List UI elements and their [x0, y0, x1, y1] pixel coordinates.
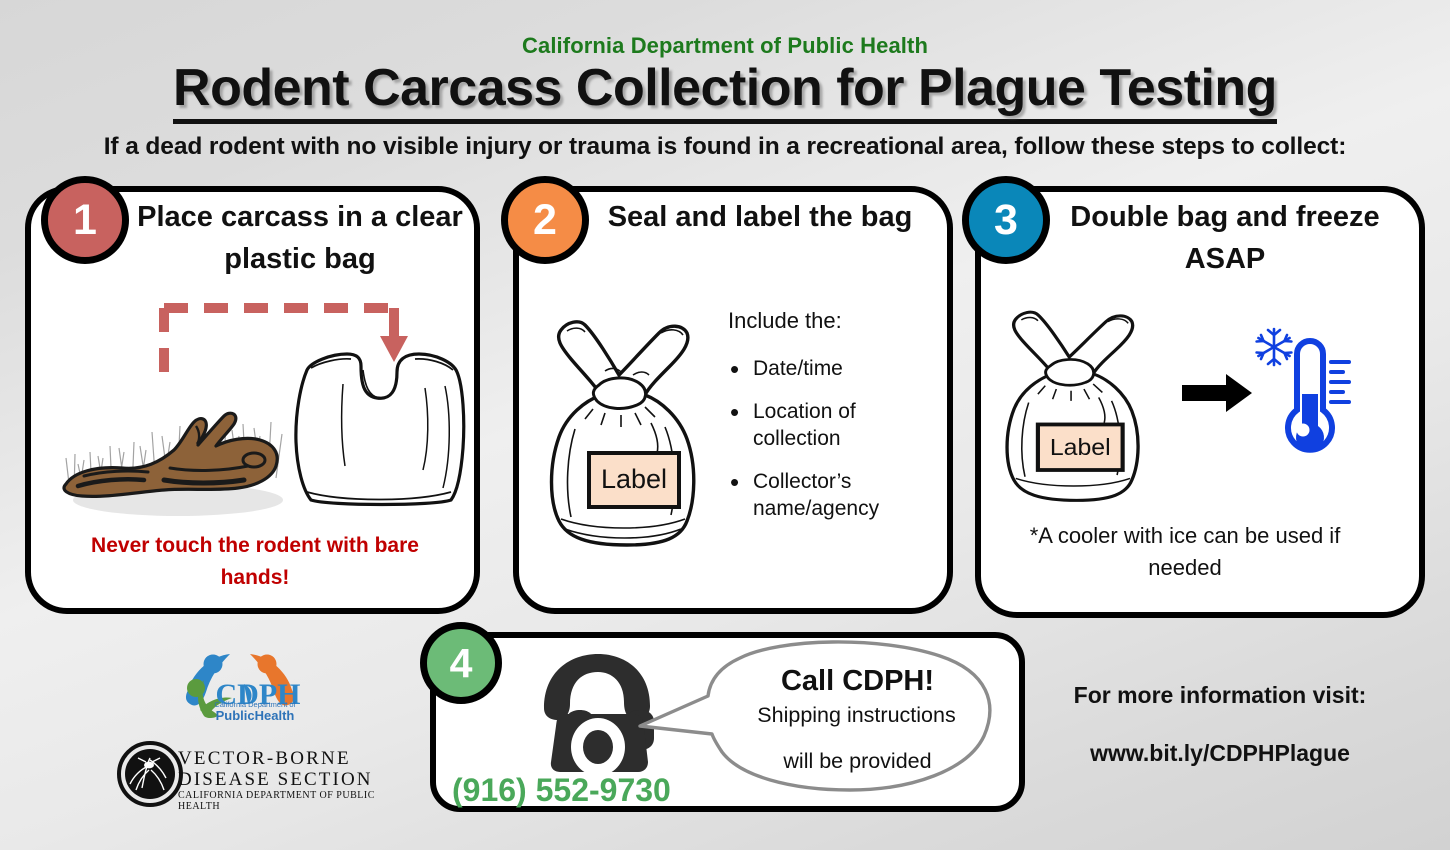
include-lead: Include the:	[728, 308, 938, 334]
page-title-text: Rodent Carcass Collection for Plague Tes…	[173, 59, 1277, 124]
include-items: Date/time Location of collection Collect…	[728, 356, 938, 522]
step-2-title: Seal and label the bag	[600, 196, 920, 238]
svg-text:Label: Label	[1050, 435, 1111, 461]
call-cdph-heading: Call CDPH!	[745, 665, 970, 698]
infographic-canvas: California Department of Public Health R…	[0, 0, 1450, 850]
cdph-phone-number[interactable]: (916) 552-9730	[452, 772, 671, 809]
page-title: Rodent Carcass Collection for Plague Tes…	[0, 58, 1450, 118]
step-number-badge-2: 2	[501, 176, 589, 264]
more-information-url[interactable]: www.bit.ly/CDPHPlague	[1040, 740, 1400, 767]
department-name: California Department of Public Health	[0, 33, 1450, 59]
vector-borne-line-2: DISEASE SECTION	[178, 769, 393, 791]
call-cdph-line-1: Shipping instructions	[724, 703, 989, 728]
step-number-badge-4: 4	[420, 622, 502, 704]
list-item: Location of collection	[728, 399, 938, 453]
step-3-title: Double bag and freeze ASAP	[1060, 196, 1390, 280]
cdph-logo-name: PublicHealth	[190, 708, 320, 723]
vector-borne-logo-mark	[116, 740, 184, 808]
step-number-badge-3: 3	[962, 176, 1050, 264]
vector-borne-line-1: VECTOR-BORNE	[178, 748, 388, 770]
plastic-bag-icon	[285, 340, 475, 515]
step-3-note: *A cooler with ice can be used if needed	[1005, 520, 1365, 584]
call-cdph-line-2: will be provided	[740, 749, 975, 774]
list-item: Collector’s name/agency	[728, 469, 938, 523]
step-2-include-list: Include the: Date/time Location of colle…	[728, 308, 938, 538]
snowflake-icon	[1252, 325, 1296, 369]
more-information-label: For more information visit:	[1040, 682, 1400, 709]
rodent-carcass-icon	[48, 388, 293, 523]
step-1-warning: Never touch the rodent with bare hands!	[60, 530, 450, 593]
tied-bag-icon: Label	[533, 305, 723, 560]
tied-bag-icon: Label	[990, 298, 1165, 513]
list-item: Date/time	[728, 356, 938, 383]
vector-borne-line-3: CALIFORNIA DEPARTMENT OF PUBLIC HEALTH	[178, 790, 393, 812]
right-arrow-icon	[1182, 372, 1254, 414]
step-number-badge-1: 1	[41, 176, 129, 264]
page-subtitle: If a dead rodent with no visible injury …	[0, 133, 1450, 161]
svg-text:Label: Label	[601, 464, 667, 494]
step-1-title: Place carcass in a clear plastic bag	[135, 196, 465, 280]
